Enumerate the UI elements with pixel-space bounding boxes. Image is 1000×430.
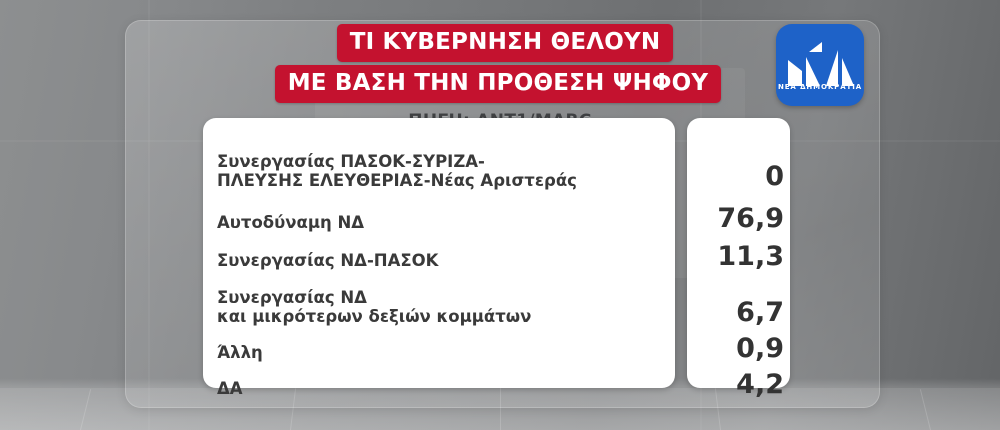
table-row: Συνεργασίας ΝΔ-ΠΑΣΟΚ bbox=[217, 232, 665, 270]
values-card: 0 76,9 11,3 6,7 0,9 4,2 bbox=[687, 118, 790, 388]
table-row-value: 11,3 bbox=[687, 232, 790, 270]
table-row-value: 4,2 bbox=[687, 362, 790, 398]
broadcast-graphic: ΤΙ ΚΥΒΕΡΝΗΣΗ ΘΕΛΟΥΝ ΜΕ ΒΑΣΗ ΤΗΝ ΠΡΟΘΕΣΗ … bbox=[0, 0, 1000, 430]
row-value: 76,9 bbox=[687, 205, 790, 232]
row-value: 0 bbox=[687, 163, 790, 190]
title-line-2: ΜΕ ΒΑΣΗ ΤΗΝ ΠΡΟΘΕΣΗ ΨΗΦΟΥ bbox=[275, 65, 722, 103]
table-row-value: 0 bbox=[687, 128, 790, 190]
logo-caption: ΝΕΑ ΔΗΜΟΚΡΑΤΙΑ bbox=[776, 83, 864, 91]
table-row: Άλλη bbox=[217, 326, 665, 362]
nea-dimokratia-logo: ΝΕΑ ΔΗΜΟΚΡΑΤΙΑ bbox=[776, 24, 864, 106]
row-label: Συνεργασίας ΝΔ-ΠΑΣΟΚ bbox=[217, 251, 438, 270]
table-row-value: 0,9 bbox=[687, 326, 790, 362]
labels-card: Συνεργασίας ΠΑΣΟΚ-ΣΥΡΙΖΑ- ΠΛΕΥΣΗΣ ΕΛΕΥΘΕ… bbox=[203, 118, 675, 388]
row-label: Άλλη bbox=[217, 343, 263, 362]
row-value: 4,2 bbox=[687, 371, 790, 398]
row-value: 6,7 bbox=[687, 299, 790, 326]
title-line-1: ΤΙ ΚΥΒΕΡΝΗΣΗ ΘΕΛΟΥΝ bbox=[337, 24, 674, 62]
value-rows: 0 76,9 11,3 6,7 0,9 4,2 bbox=[687, 128, 790, 378]
row-value: 11,3 bbox=[687, 243, 790, 270]
table-row: Συνεργασίας ΝΔ και μικρότερων δεξιών κομ… bbox=[217, 270, 665, 326]
table-row: ΔΑ bbox=[217, 362, 665, 398]
row-label: ΔΑ bbox=[217, 379, 243, 398]
row-label: Συνεργασίας ΠΑΣΟΚ-ΣΥΡΙΖΑ- ΠΛΕΥΣΗΣ ΕΛΕΥΘΕ… bbox=[217, 152, 577, 190]
row-label: Αυτοδύναμη ΝΔ bbox=[217, 213, 364, 232]
table-row: Συνεργασίας ΠΑΣΟΚ-ΣΥΡΙΖΑ- ΠΛΕΥΣΗΣ ΕΛΕΥΘΕ… bbox=[217, 128, 665, 190]
table-row: Αυτοδύναμη ΝΔ bbox=[217, 190, 665, 232]
row-label: Συνεργασίας ΝΔ και μικρότερων δεξιών κομ… bbox=[217, 288, 531, 326]
label-rows: Συνεργασίας ΠΑΣΟΚ-ΣΥΡΙΖΑ- ΠΛΕΥΣΗΣ ΕΛΕΥΘΕ… bbox=[217, 128, 665, 378]
table-row-value: 6,7 bbox=[687, 270, 790, 326]
row-value: 0,9 bbox=[687, 335, 790, 362]
nd-monogram-icon bbox=[776, 24, 864, 106]
table-row-value: 76,9 bbox=[687, 190, 790, 232]
